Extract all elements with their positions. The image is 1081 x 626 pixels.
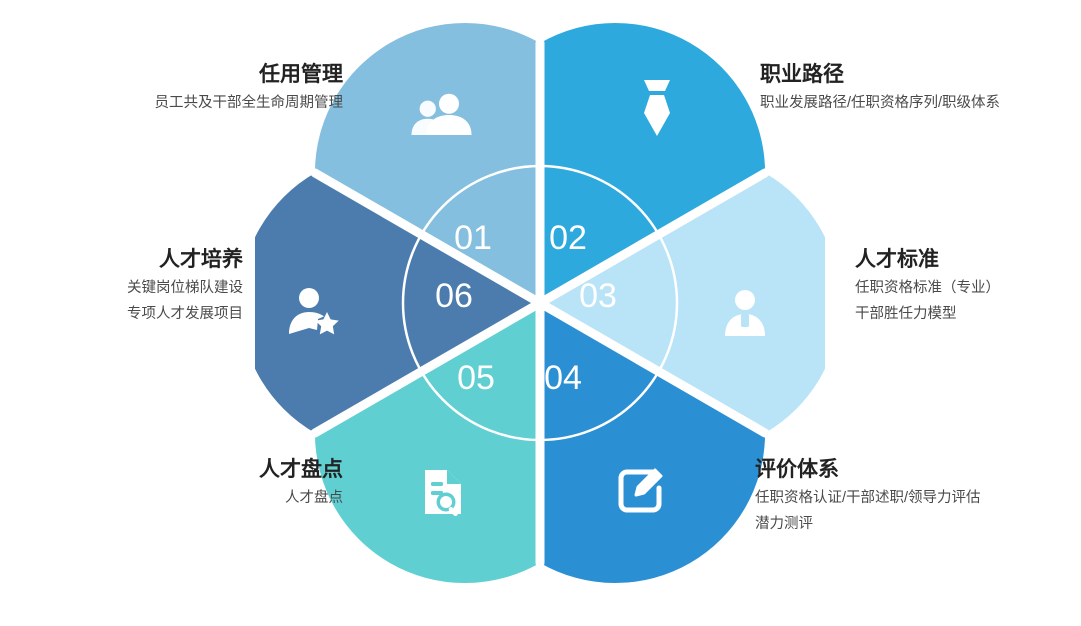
label-title-02: 职业路径 (760, 60, 1080, 90)
label-block-06: 人才培养 关键岗位梯队建设 专项人才发展项目 (20, 245, 243, 327)
label-title-03: 人才标准 (855, 245, 1081, 275)
label-desc-02-line-1: 职业发展路径/任职资格序列/职级体系 (760, 90, 1080, 116)
label-desc-04-line-1: 任职资格认证/干部述职/领导力评估 (755, 485, 1081, 511)
label-block-04: 评价体系 任职资格认证/干部述职/领导力评估 潜力测评 (755, 455, 1081, 537)
label-title-04: 评价体系 (755, 455, 1081, 485)
label-desc-03-line-1: 任职资格标准（专业） (855, 275, 1081, 301)
label-block-01: 任用管理 员工共及干部全生命周期管理 (20, 60, 343, 116)
label-block-05: 人才盘点 人才盘点 (20, 455, 343, 511)
label-title-01: 任用管理 (20, 60, 343, 90)
label-desc-03-line-2: 干部胜任力模型 (855, 301, 1081, 327)
petal-number-01: 01 (454, 219, 492, 257)
label-desc-04-line-2: 潜力测评 (755, 511, 1081, 537)
label-desc-06-line-2: 专项人才发展项目 (20, 301, 243, 327)
label-title-05: 人才盘点 (20, 455, 343, 485)
petal-number-02: 02 (549, 219, 587, 257)
label-block-02: 职业路径 职业发展路径/任职资格序列/职级体系 (760, 60, 1080, 116)
petal-number-04: 04 (544, 359, 582, 397)
label-desc-06-line-1: 关键岗位梯队建设 (20, 275, 243, 301)
label-desc-05-line-1: 人才盘点 (20, 485, 343, 511)
petal-number-03: 03 (579, 277, 617, 315)
label-title-06: 人才培养 (20, 245, 243, 275)
petal-number-06: 06 (435, 277, 473, 315)
label-desc-01-line-1: 员工共及干部全生命周期管理 (20, 90, 343, 116)
infographic-canvas: 01 02 03 04 05 06 (0, 0, 1081, 626)
label-block-03: 人才标准 任职资格标准（专业） 干部胜任力模型 (855, 245, 1081, 327)
petal-number-05: 05 (457, 359, 495, 397)
